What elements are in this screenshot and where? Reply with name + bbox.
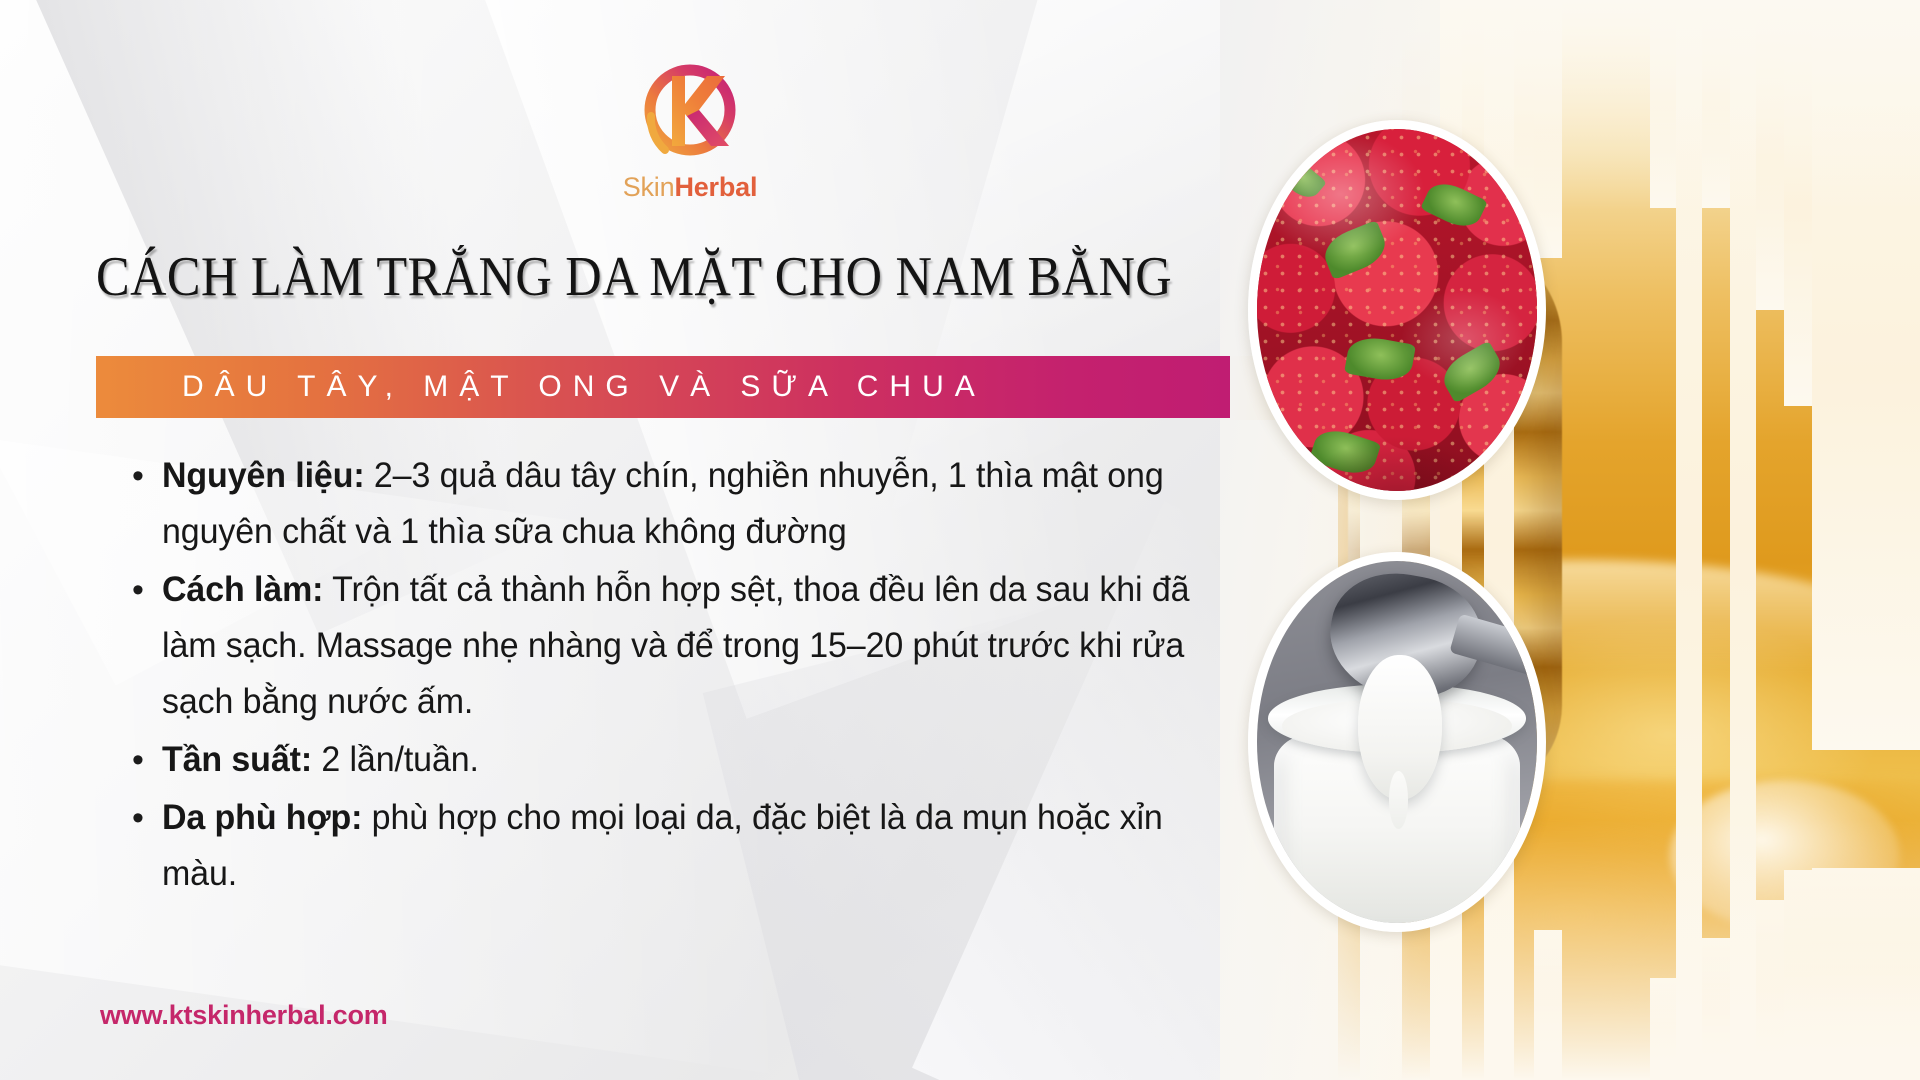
brand-wordmark: SkinHerbal [595, 174, 785, 201]
yogurt-photo [1248, 552, 1546, 932]
brand-name-bold: Herbal [674, 172, 757, 202]
list-item-body: Da phù hợp: phù hợp cho mọi loại da, đặc… [162, 790, 1190, 902]
list-item-body: Tần suất: 2 lần/tuần. [162, 732, 1190, 788]
list-item-text: 2 lần/tuần. [312, 740, 479, 779]
list-item-label: Tần suất: [162, 740, 312, 779]
bullet-marker-icon: • [132, 732, 162, 788]
bullet-marker-icon: • [132, 562, 162, 618]
list-item-label: Da phù hợp: [162, 798, 362, 837]
list-item-body: Nguyên liệu: 2–3 quả dâu tây chín, nghiề… [162, 448, 1190, 560]
yogurt-drip-tail [1389, 771, 1409, 829]
bullet-marker-icon: • [132, 448, 162, 504]
infographic-poster: SkinHerbal CÁCH LÀM TRẮNG DA MẶT CHO NAM… [0, 0, 1920, 1080]
yogurt-photo-inner [1257, 561, 1537, 923]
list-item-label: Nguyên liệu: [162, 456, 365, 495]
list-item: • Da phù hợp: phù hợp cho mọi loại da, đ… [132, 790, 1222, 902]
subtitle-text: DÂU TÂY, MẬT ONG VÀ SỮA CHUA [96, 370, 986, 404]
strawberry-highlights [1257, 129, 1537, 491]
list-item-label: Cách làm: [162, 570, 323, 609]
subtitle-banner: DÂU TÂY, MẬT ONG VÀ SỮA CHUA [96, 356, 1230, 418]
brand-logo[interactable]: SkinHerbal [595, 58, 785, 223]
website-url[interactable]: www.ktskinherbal.com [100, 1000, 388, 1031]
strawberry-photo-inner [1257, 129, 1537, 491]
brand-name-light: Skin [623, 172, 675, 202]
circular-k-monogram-icon [625, 58, 755, 170]
bullet-marker-icon: • [132, 790, 162, 846]
strawberry-photo [1248, 120, 1546, 500]
ingredient-steps-list: • Nguyên liệu: 2–3 quả dâu tây chín, ngh… [132, 448, 1222, 904]
list-item-body: Cách làm: Trộn tất cả thành hỗn hợp sệt,… [162, 562, 1190, 730]
list-item: • Cách làm: Trộn tất cả thành hỗn hợp sệ… [132, 562, 1222, 730]
list-item: • Tần suất: 2 lần/tuần. [132, 732, 1222, 788]
list-item: • Nguyên liệu: 2–3 quả dâu tây chín, ngh… [132, 448, 1222, 560]
page-title: CÁCH LÀM TRẮNG DA MẶT CHO NAM BẰNG [96, 248, 933, 306]
